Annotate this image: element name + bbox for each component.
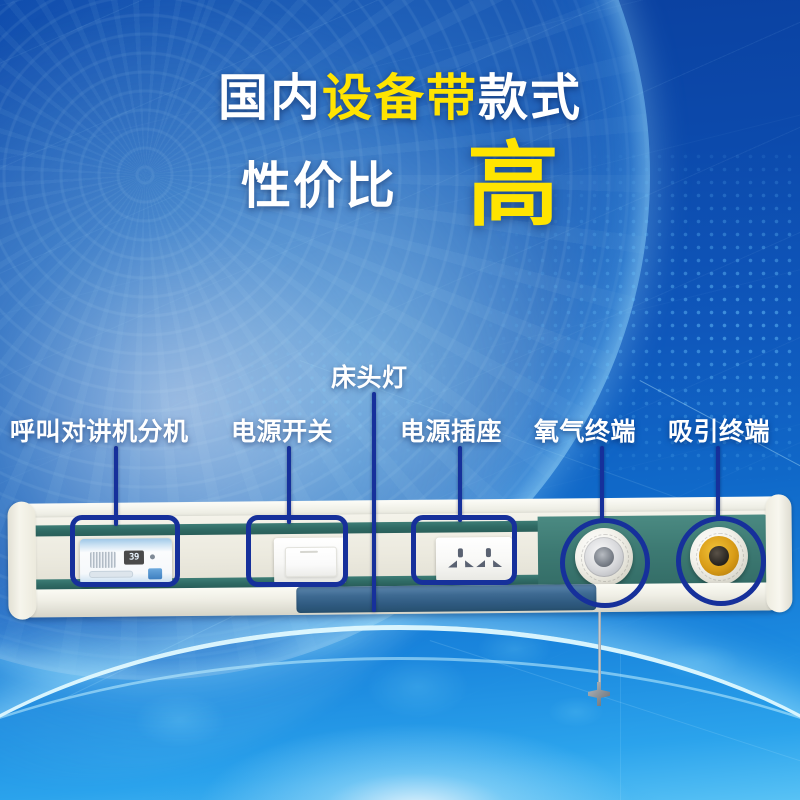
halftone-dots-center: [150, 300, 480, 480]
callout-label-suction-terminal: 吸引终端: [668, 412, 770, 448]
pull-cord-tip[interactable]: [588, 682, 610, 706]
callout-text: 床头灯: [331, 364, 408, 392]
headline-kicker: 性价比: [241, 146, 397, 218]
bed-lamp-diffuser: [296, 584, 596, 613]
callout-label-oxygen-terminal: 氧气终端: [534, 412, 636, 448]
leader-line-suction: [716, 446, 720, 518]
headline-suffix: 款式: [478, 70, 582, 126]
headline-prefix: 国内: [218, 70, 322, 126]
pull-cord[interactable]: [598, 612, 601, 690]
panel-end-cap-right: [765, 494, 792, 612]
leader-line-lamp: [372, 392, 376, 612]
callout-text: 氧气终端: [534, 418, 636, 446]
ray-line-5: [620, 650, 621, 800]
leader-line-intercom: [114, 446, 118, 526]
highlight-switch: [246, 515, 348, 587]
leader-line-oxygen: [600, 446, 604, 520]
callout-text: 呼叫对讲机分机: [10, 418, 189, 446]
callout-label-power-switch: 电源开关: [231, 412, 333, 448]
callout-label-nurse-call-intercom: 呼叫对讲机分机: [10, 412, 189, 448]
callout-text: 吸引终端: [668, 418, 770, 446]
callout-label-power-socket: 电源插座: [400, 412, 502, 448]
poster-canvas: 国内设备带款式 性价比 高 呼叫对讲机分机 电源开关 床头灯 电源插座 氧气终端…: [0, 0, 800, 800]
horizon-arc-secondary: [0, 657, 800, 800]
highlight-socket: [411, 515, 517, 585]
highlight-suction: [676, 516, 766, 606]
ray-line-4: [430, 640, 800, 774]
highlight-oxygen: [560, 518, 650, 608]
leader-line-switch: [287, 446, 291, 524]
horizon-arc-main: [0, 625, 800, 800]
headline-block: 国内设备带款式 性价比 高: [0, 72, 800, 223]
bottom-glow: [0, 630, 800, 800]
callout-text: 电源开关: [231, 418, 333, 446]
headline-line-1: 国内设备带款式: [0, 72, 800, 125]
headline-line-2: 性价比 高: [0, 141, 800, 224]
panel-end-cap-left: [7, 501, 36, 619]
callout-text: 电源插座: [400, 418, 502, 446]
callout-label-bed-lamp: 床头灯: [331, 358, 408, 394]
highlight-intercom: [70, 515, 180, 587]
headline-highlight: 设备带: [322, 70, 478, 126]
leader-line-socket: [458, 446, 462, 522]
headline-accent-character: 高: [467, 145, 559, 228]
